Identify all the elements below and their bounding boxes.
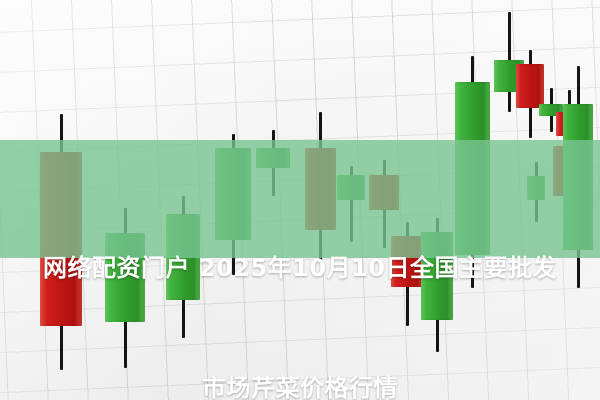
title-line-1: 网络配资门户 2025年10月10日全国主要批发 (0, 248, 600, 288)
title-line-2: 市场芹菜价格行情 (0, 368, 600, 400)
candle-body-down (516, 64, 544, 108)
page-title: 网络配资门户 2025年10月10日全国主要批发 市场芹菜价格行情 (0, 168, 600, 400)
chart-banner: 网络配资门户 2025年10月10日全国主要批发 市场芹菜价格行情 (0, 0, 600, 400)
